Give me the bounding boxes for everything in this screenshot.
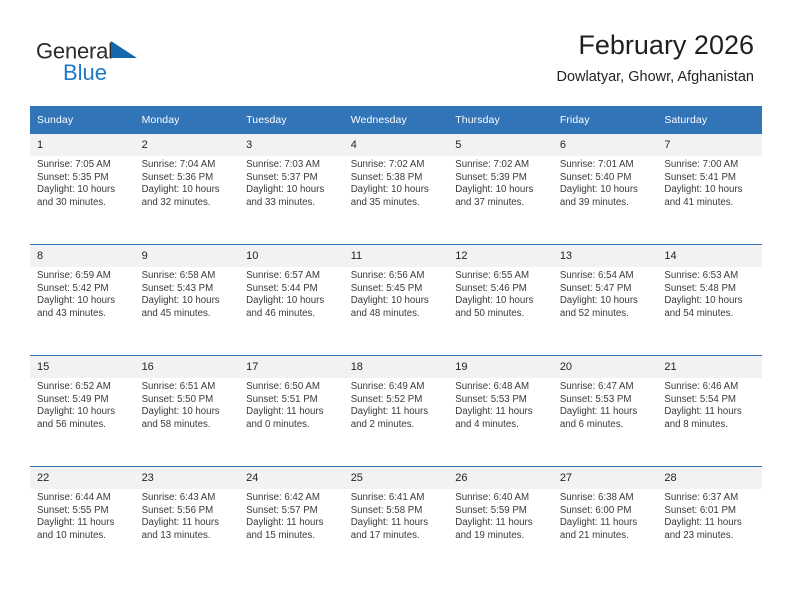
day-number: 26 bbox=[448, 467, 553, 489]
daylight-text-line1: Daylight: 11 hours bbox=[246, 517, 338, 530]
day-number: 13 bbox=[553, 245, 658, 267]
daylight-text-line2: and 4 minutes. bbox=[455, 419, 547, 432]
day-number: 28 bbox=[657, 467, 762, 489]
day-cell-inner: 16Sunrise: 6:51 AMSunset: 5:50 PMDayligh… bbox=[135, 356, 240, 466]
day-details: Sunrise: 6:43 AMSunset: 5:56 PMDaylight:… bbox=[135, 489, 240, 542]
sunrise-text: Sunrise: 6:47 AM bbox=[560, 381, 652, 394]
sunrise-text: Sunrise: 6:48 AM bbox=[455, 381, 547, 394]
calendar-day-cell[interactable]: 10Sunrise: 6:57 AMSunset: 5:44 PMDayligh… bbox=[239, 245, 344, 356]
calendar-day-cell[interactable]: 4Sunrise: 7:02 AMSunset: 5:38 PMDaylight… bbox=[344, 134, 449, 245]
sunset-text: Sunset: 5:51 PM bbox=[246, 394, 338, 407]
calendar-day-cell[interactable]: 22Sunrise: 6:44 AMSunset: 5:55 PMDayligh… bbox=[30, 467, 135, 578]
day-number: 22 bbox=[30, 467, 135, 489]
day-details: Sunrise: 7:02 AMSunset: 5:39 PMDaylight:… bbox=[448, 156, 553, 209]
sunrise-text: Sunrise: 7:05 AM bbox=[37, 159, 129, 172]
calendar-header-row: Sunday Monday Tuesday Wednesday Thursday… bbox=[30, 106, 762, 134]
day-cell-inner: 17Sunrise: 6:50 AMSunset: 5:51 PMDayligh… bbox=[239, 356, 344, 466]
sunrise-text: Sunrise: 6:42 AM bbox=[246, 492, 338, 505]
day-details: Sunrise: 7:04 AMSunset: 5:36 PMDaylight:… bbox=[135, 156, 240, 209]
weekday-header-sunday: Sunday bbox=[30, 106, 135, 134]
day-number: 14 bbox=[657, 245, 762, 267]
daylight-text-line1: Daylight: 11 hours bbox=[455, 406, 547, 419]
day-cell-inner: 2Sunrise: 7:04 AMSunset: 5:36 PMDaylight… bbox=[135, 134, 240, 244]
day-number: 12 bbox=[448, 245, 553, 267]
daylight-text-line2: and 58 minutes. bbox=[142, 419, 234, 432]
weekday-header-tuesday: Tuesday bbox=[239, 106, 344, 134]
calendar-day-cell[interactable]: 12Sunrise: 6:55 AMSunset: 5:46 PMDayligh… bbox=[448, 245, 553, 356]
day-details: Sunrise: 6:53 AMSunset: 5:48 PMDaylight:… bbox=[657, 267, 762, 320]
sunset-text: Sunset: 5:58 PM bbox=[351, 505, 443, 518]
sunrise-text: Sunrise: 6:52 AM bbox=[37, 381, 129, 394]
weekday-header-wednesday: Wednesday bbox=[344, 106, 449, 134]
day-details: Sunrise: 7:01 AMSunset: 5:40 PMDaylight:… bbox=[553, 156, 658, 209]
day-cell-inner: 7Sunrise: 7:00 AMSunset: 5:41 PMDaylight… bbox=[657, 134, 762, 244]
day-cell-inner: 27Sunrise: 6:38 AMSunset: 6:00 PMDayligh… bbox=[553, 467, 658, 577]
sunset-text: Sunset: 5:39 PM bbox=[455, 172, 547, 185]
sunset-text: Sunset: 5:37 PM bbox=[246, 172, 338, 185]
day-details: Sunrise: 6:38 AMSunset: 6:00 PMDaylight:… bbox=[553, 489, 658, 542]
daylight-text-line2: and 23 minutes. bbox=[664, 530, 756, 543]
calendar-day-cell[interactable]: 19Sunrise: 6:48 AMSunset: 5:53 PMDayligh… bbox=[448, 356, 553, 467]
day-number: 8 bbox=[30, 245, 135, 267]
day-details: Sunrise: 6:50 AMSunset: 5:51 PMDaylight:… bbox=[239, 378, 344, 431]
calendar-day-cell[interactable]: 1Sunrise: 7:05 AMSunset: 5:35 PMDaylight… bbox=[30, 134, 135, 245]
daylight-text-line2: and 52 minutes. bbox=[560, 308, 652, 321]
daylight-text-line1: Daylight: 11 hours bbox=[351, 406, 443, 419]
day-number: 1 bbox=[30, 134, 135, 156]
sunrise-text: Sunrise: 6:54 AM bbox=[560, 270, 652, 283]
day-number: 11 bbox=[344, 245, 449, 267]
calendar-page: General Blue February 2026 Dowlatyar, Gh… bbox=[0, 0, 792, 612]
sunrise-text: Sunrise: 6:38 AM bbox=[560, 492, 652, 505]
daylight-text-line2: and 0 minutes. bbox=[246, 419, 338, 432]
day-number: 15 bbox=[30, 356, 135, 378]
sunrise-text: Sunrise: 6:43 AM bbox=[142, 492, 234, 505]
calendar-day-cell[interactable]: 9Sunrise: 6:58 AMSunset: 5:43 PMDaylight… bbox=[135, 245, 240, 356]
daylight-text-line1: Daylight: 10 hours bbox=[664, 295, 756, 308]
sunset-text: Sunset: 5:49 PM bbox=[37, 394, 129, 407]
daylight-text-line2: and 2 minutes. bbox=[351, 419, 443, 432]
day-cell-inner: 22Sunrise: 6:44 AMSunset: 5:55 PMDayligh… bbox=[30, 467, 135, 577]
day-details: Sunrise: 6:56 AMSunset: 5:45 PMDaylight:… bbox=[344, 267, 449, 320]
day-cell-inner: 9Sunrise: 6:58 AMSunset: 5:43 PMDaylight… bbox=[135, 245, 240, 355]
calendar-day-cell[interactable]: 26Sunrise: 6:40 AMSunset: 5:59 PMDayligh… bbox=[448, 467, 553, 578]
day-cell-inner: 4Sunrise: 7:02 AMSunset: 5:38 PMDaylight… bbox=[344, 134, 449, 244]
calendar-day-cell[interactable]: 2Sunrise: 7:04 AMSunset: 5:36 PMDaylight… bbox=[135, 134, 240, 245]
day-cell-inner: 26Sunrise: 6:40 AMSunset: 5:59 PMDayligh… bbox=[448, 467, 553, 577]
day-cell-inner: 8Sunrise: 6:59 AMSunset: 5:42 PMDaylight… bbox=[30, 245, 135, 355]
calendar-day-cell[interactable]: 23Sunrise: 6:43 AMSunset: 5:56 PMDayligh… bbox=[135, 467, 240, 578]
page-subtitle: Dowlatyar, Ghowr, Afghanistan bbox=[557, 68, 754, 86]
day-number: 9 bbox=[135, 245, 240, 267]
calendar-day-cell[interactable]: 24Sunrise: 6:42 AMSunset: 5:57 PMDayligh… bbox=[239, 467, 344, 578]
sunrise-text: Sunrise: 6:46 AM bbox=[664, 381, 756, 394]
sunset-text: Sunset: 5:42 PM bbox=[37, 283, 129, 296]
day-cell-inner: 28Sunrise: 6:37 AMSunset: 6:01 PMDayligh… bbox=[657, 467, 762, 577]
sunset-text: Sunset: 5:57 PM bbox=[246, 505, 338, 518]
daylight-text-line1: Daylight: 11 hours bbox=[142, 517, 234, 530]
daylight-text-line2: and 39 minutes. bbox=[560, 197, 652, 210]
daylight-text-line1: Daylight: 10 hours bbox=[351, 295, 443, 308]
day-details: Sunrise: 6:41 AMSunset: 5:58 PMDaylight:… bbox=[344, 489, 449, 542]
sunrise-text: Sunrise: 7:04 AM bbox=[142, 159, 234, 172]
day-number: 27 bbox=[553, 467, 658, 489]
day-number: 6 bbox=[553, 134, 658, 156]
sunrise-text: Sunrise: 7:02 AM bbox=[455, 159, 547, 172]
day-cell-inner: 10Sunrise: 6:57 AMSunset: 5:44 PMDayligh… bbox=[239, 245, 344, 355]
day-number: 7 bbox=[657, 134, 762, 156]
sunset-text: Sunset: 5:45 PM bbox=[351, 283, 443, 296]
sunset-text: Sunset: 5:54 PM bbox=[664, 394, 756, 407]
calendar-day-cell[interactable]: 28Sunrise: 6:37 AMSunset: 6:01 PMDayligh… bbox=[657, 467, 762, 578]
daylight-text-line2: and 6 minutes. bbox=[560, 419, 652, 432]
sunset-text: Sunset: 5:35 PM bbox=[37, 172, 129, 185]
calendar-table: Sunday Monday Tuesday Wednesday Thursday… bbox=[30, 106, 762, 577]
weekday-header-friday: Friday bbox=[553, 106, 658, 134]
daylight-text-line1: Daylight: 11 hours bbox=[455, 517, 547, 530]
day-details: Sunrise: 6:46 AMSunset: 5:54 PMDaylight:… bbox=[657, 378, 762, 431]
daylight-text-line2: and 43 minutes. bbox=[37, 308, 129, 321]
day-number: 3 bbox=[239, 134, 344, 156]
sunset-text: Sunset: 5:48 PM bbox=[664, 283, 756, 296]
day-details: Sunrise: 6:37 AMSunset: 6:01 PMDaylight:… bbox=[657, 489, 762, 542]
sunrise-text: Sunrise: 7:03 AM bbox=[246, 159, 338, 172]
day-details: Sunrise: 6:59 AMSunset: 5:42 PMDaylight:… bbox=[30, 267, 135, 320]
day-cell-inner: 25Sunrise: 6:41 AMSunset: 5:58 PMDayligh… bbox=[344, 467, 449, 577]
daylight-text-line1: Daylight: 10 hours bbox=[37, 406, 129, 419]
calendar-week-row: 15Sunrise: 6:52 AMSunset: 5:49 PMDayligh… bbox=[30, 356, 762, 467]
sunset-text: Sunset: 5:56 PM bbox=[142, 505, 234, 518]
calendar-day-cell[interactable]: 17Sunrise: 6:50 AMSunset: 5:51 PMDayligh… bbox=[239, 356, 344, 467]
daylight-text-line1: Daylight: 10 hours bbox=[37, 184, 129, 197]
calendar-day-cell[interactable]: 8Sunrise: 6:59 AMSunset: 5:42 PMDaylight… bbox=[30, 245, 135, 356]
calendar-day-cell[interactable]: 5Sunrise: 7:02 AMSunset: 5:39 PMDaylight… bbox=[448, 134, 553, 245]
day-details: Sunrise: 6:48 AMSunset: 5:53 PMDaylight:… bbox=[448, 378, 553, 431]
day-number: 25 bbox=[344, 467, 449, 489]
day-details: Sunrise: 6:49 AMSunset: 5:52 PMDaylight:… bbox=[344, 378, 449, 431]
sunset-text: Sunset: 5:43 PM bbox=[142, 283, 234, 296]
day-cell-inner: 18Sunrise: 6:49 AMSunset: 5:52 PMDayligh… bbox=[344, 356, 449, 466]
day-cell-inner: 6Sunrise: 7:01 AMSunset: 5:40 PMDaylight… bbox=[553, 134, 658, 244]
daylight-text-line2: and 17 minutes. bbox=[351, 530, 443, 543]
sunrise-text: Sunrise: 6:41 AM bbox=[351, 492, 443, 505]
calendar-day-cell[interactable]: 7Sunrise: 7:00 AMSunset: 5:41 PMDaylight… bbox=[657, 134, 762, 245]
day-details: Sunrise: 7:00 AMSunset: 5:41 PMDaylight:… bbox=[657, 156, 762, 209]
calendar-day-cell[interactable]: 20Sunrise: 6:47 AMSunset: 5:53 PMDayligh… bbox=[553, 356, 658, 467]
calendar-day-cell[interactable]: 3Sunrise: 7:03 AMSunset: 5:37 PMDaylight… bbox=[239, 134, 344, 245]
sunrise-text: Sunrise: 7:00 AM bbox=[664, 159, 756, 172]
day-cell-inner: 15Sunrise: 6:52 AMSunset: 5:49 PMDayligh… bbox=[30, 356, 135, 466]
daylight-text-line1: Daylight: 11 hours bbox=[664, 517, 756, 530]
day-cell-inner: 14Sunrise: 6:53 AMSunset: 5:48 PMDayligh… bbox=[657, 245, 762, 355]
daylight-text-line1: Daylight: 10 hours bbox=[246, 295, 338, 308]
sunset-text: Sunset: 5:52 PM bbox=[351, 394, 443, 407]
day-cell-inner: 20Sunrise: 6:47 AMSunset: 5:53 PMDayligh… bbox=[553, 356, 658, 466]
day-cell-inner: 13Sunrise: 6:54 AMSunset: 5:47 PMDayligh… bbox=[553, 245, 658, 355]
day-number: 5 bbox=[448, 134, 553, 156]
day-number: 23 bbox=[135, 467, 240, 489]
daylight-text-line1: Daylight: 10 hours bbox=[351, 184, 443, 197]
daylight-text-line1: Daylight: 10 hours bbox=[142, 406, 234, 419]
sunrise-text: Sunrise: 6:56 AM bbox=[351, 270, 443, 283]
calendar-day-cell[interactable]: 11Sunrise: 6:56 AMSunset: 5:45 PMDayligh… bbox=[344, 245, 449, 356]
daylight-text-line2: and 30 minutes. bbox=[37, 197, 129, 210]
weekday-header-monday: Monday bbox=[135, 106, 240, 134]
sunset-text: Sunset: 5:38 PM bbox=[351, 172, 443, 185]
daylight-text-line2: and 46 minutes. bbox=[246, 308, 338, 321]
daylight-text-line1: Daylight: 11 hours bbox=[246, 406, 338, 419]
page-title: February 2026 bbox=[557, 28, 754, 62]
sunrise-text: Sunrise: 6:58 AM bbox=[142, 270, 234, 283]
calendar-week-row: 1Sunrise: 7:05 AMSunset: 5:35 PMDaylight… bbox=[30, 134, 762, 245]
daylight-text-line2: and 8 minutes. bbox=[664, 419, 756, 432]
sunrise-text: Sunrise: 6:44 AM bbox=[37, 492, 129, 505]
day-number: 19 bbox=[448, 356, 553, 378]
day-number: 24 bbox=[239, 467, 344, 489]
calendar-day-cell[interactable]: 13Sunrise: 6:54 AMSunset: 5:47 PMDayligh… bbox=[553, 245, 658, 356]
sunrise-text: Sunrise: 6:50 AM bbox=[246, 381, 338, 394]
daylight-text-line1: Daylight: 11 hours bbox=[664, 406, 756, 419]
daylight-text-line2: and 13 minutes. bbox=[142, 530, 234, 543]
calendar-day-cell[interactable]: 18Sunrise: 6:49 AMSunset: 5:52 PMDayligh… bbox=[344, 356, 449, 467]
day-details: Sunrise: 6:54 AMSunset: 5:47 PMDaylight:… bbox=[553, 267, 658, 320]
day-cell-inner: 19Sunrise: 6:48 AMSunset: 5:53 PMDayligh… bbox=[448, 356, 553, 466]
day-cell-inner: 21Sunrise: 6:46 AMSunset: 5:54 PMDayligh… bbox=[657, 356, 762, 466]
day-details: Sunrise: 6:58 AMSunset: 5:43 PMDaylight:… bbox=[135, 267, 240, 320]
sunrise-text: Sunrise: 6:57 AM bbox=[246, 270, 338, 283]
daylight-text-line1: Daylight: 10 hours bbox=[560, 295, 652, 308]
sunset-text: Sunset: 5:36 PM bbox=[142, 172, 234, 185]
daylight-text-line2: and 50 minutes. bbox=[455, 308, 547, 321]
sunrise-text: Sunrise: 6:51 AM bbox=[142, 381, 234, 394]
daylight-text-line2: and 41 minutes. bbox=[664, 197, 756, 210]
day-number: 4 bbox=[344, 134, 449, 156]
sunset-text: Sunset: 6:00 PM bbox=[560, 505, 652, 518]
day-details: Sunrise: 6:47 AMSunset: 5:53 PMDaylight:… bbox=[553, 378, 658, 431]
calendar-week-row: 22Sunrise: 6:44 AMSunset: 5:55 PMDayligh… bbox=[30, 467, 762, 578]
daylight-text-line2: and 48 minutes. bbox=[351, 308, 443, 321]
day-number: 16 bbox=[135, 356, 240, 378]
sunset-text: Sunset: 5:53 PM bbox=[455, 394, 547, 407]
day-cell-inner: 12Sunrise: 6:55 AMSunset: 5:46 PMDayligh… bbox=[448, 245, 553, 355]
sunrise-text: Sunrise: 7:02 AM bbox=[351, 159, 443, 172]
sunrise-text: Sunrise: 6:40 AM bbox=[455, 492, 547, 505]
sunrise-text: Sunrise: 6:49 AM bbox=[351, 381, 443, 394]
sunset-text: Sunset: 5:46 PM bbox=[455, 283, 547, 296]
daylight-text-line1: Daylight: 11 hours bbox=[560, 517, 652, 530]
sunset-text: Sunset: 5:47 PM bbox=[560, 283, 652, 296]
sunset-text: Sunset: 5:59 PM bbox=[455, 505, 547, 518]
sunrise-text: Sunrise: 6:53 AM bbox=[664, 270, 756, 283]
daylight-text-line1: Daylight: 10 hours bbox=[142, 184, 234, 197]
day-details: Sunrise: 6:44 AMSunset: 5:55 PMDaylight:… bbox=[30, 489, 135, 542]
calendar-day-cell[interactable]: 25Sunrise: 6:41 AMSunset: 5:58 PMDayligh… bbox=[344, 467, 449, 578]
daylight-text-line1: Daylight: 10 hours bbox=[664, 184, 756, 197]
daylight-text-line1: Daylight: 10 hours bbox=[246, 184, 338, 197]
sunrise-text: Sunrise: 7:01 AM bbox=[560, 159, 652, 172]
calendar-day-cell[interactable]: 21Sunrise: 6:46 AMSunset: 5:54 PMDayligh… bbox=[657, 356, 762, 467]
day-details: Sunrise: 6:42 AMSunset: 5:57 PMDaylight:… bbox=[239, 489, 344, 542]
calendar-day-cell[interactable]: 27Sunrise: 6:38 AMSunset: 6:00 PMDayligh… bbox=[553, 467, 658, 578]
weekday-header-thursday: Thursday bbox=[448, 106, 553, 134]
day-cell-inner: 1Sunrise: 7:05 AMSunset: 5:35 PMDaylight… bbox=[30, 134, 135, 244]
daylight-text-line2: and 54 minutes. bbox=[664, 308, 756, 321]
calendar-day-cell[interactable]: 6Sunrise: 7:01 AMSunset: 5:40 PMDaylight… bbox=[553, 134, 658, 245]
brand-logo[interactable]: General Blue bbox=[36, 38, 256, 96]
sunset-text: Sunset: 5:40 PM bbox=[560, 172, 652, 185]
day-details: Sunrise: 7:02 AMSunset: 5:38 PMDaylight:… bbox=[344, 156, 449, 209]
day-details: Sunrise: 6:52 AMSunset: 5:49 PMDaylight:… bbox=[30, 378, 135, 431]
daylight-text-line1: Daylight: 10 hours bbox=[455, 295, 547, 308]
day-details: Sunrise: 7:03 AMSunset: 5:37 PMDaylight:… bbox=[239, 156, 344, 209]
calendar-day-cell[interactable]: 15Sunrise: 6:52 AMSunset: 5:49 PMDayligh… bbox=[30, 356, 135, 467]
daylight-text-line2: and 15 minutes. bbox=[246, 530, 338, 543]
day-number: 17 bbox=[239, 356, 344, 378]
day-number: 20 bbox=[553, 356, 658, 378]
sunset-text: Sunset: 5:44 PM bbox=[246, 283, 338, 296]
daylight-text-line2: and 10 minutes. bbox=[37, 530, 129, 543]
day-details: Sunrise: 7:05 AMSunset: 5:35 PMDaylight:… bbox=[30, 156, 135, 209]
sunset-text: Sunset: 5:50 PM bbox=[142, 394, 234, 407]
daylight-text-line1: Daylight: 10 hours bbox=[37, 295, 129, 308]
daylight-text-line2: and 56 minutes. bbox=[37, 419, 129, 432]
daylight-text-line2: and 37 minutes. bbox=[455, 197, 547, 210]
day-details: Sunrise: 6:57 AMSunset: 5:44 PMDaylight:… bbox=[239, 267, 344, 320]
day-number: 18 bbox=[344, 356, 449, 378]
day-details: Sunrise: 6:55 AMSunset: 5:46 PMDaylight:… bbox=[448, 267, 553, 320]
calendar-week-row: 8Sunrise: 6:59 AMSunset: 5:42 PMDaylight… bbox=[30, 245, 762, 356]
title-block: February 2026 Dowlatyar, Ghowr, Afghanis… bbox=[557, 28, 754, 86]
daylight-text-line1: Daylight: 10 hours bbox=[455, 184, 547, 197]
sunset-text: Sunset: 6:01 PM bbox=[664, 505, 756, 518]
sunrise-text: Sunrise: 6:59 AM bbox=[37, 270, 129, 283]
day-number: 2 bbox=[135, 134, 240, 156]
daylight-text-line1: Daylight: 10 hours bbox=[560, 184, 652, 197]
day-cell-inner: 11Sunrise: 6:56 AMSunset: 5:45 PMDayligh… bbox=[344, 245, 449, 355]
daylight-text-line2: and 33 minutes. bbox=[246, 197, 338, 210]
sunset-text: Sunset: 5:53 PM bbox=[560, 394, 652, 407]
daylight-text-line2: and 45 minutes. bbox=[142, 308, 234, 321]
daylight-text-line1: Daylight: 11 hours bbox=[351, 517, 443, 530]
sunset-text: Sunset: 5:41 PM bbox=[664, 172, 756, 185]
day-number: 21 bbox=[657, 356, 762, 378]
day-cell-inner: 3Sunrise: 7:03 AMSunset: 5:37 PMDaylight… bbox=[239, 134, 344, 244]
daylight-text-line1: Daylight: 10 hours bbox=[142, 295, 234, 308]
sunrise-text: Sunrise: 6:55 AM bbox=[455, 270, 547, 283]
sunset-text: Sunset: 5:55 PM bbox=[37, 505, 129, 518]
day-cell-inner: 5Sunrise: 7:02 AMSunset: 5:39 PMDaylight… bbox=[448, 134, 553, 244]
daylight-text-line2: and 32 minutes. bbox=[142, 197, 234, 210]
daylight-text-line2: and 35 minutes. bbox=[351, 197, 443, 210]
daylight-text-line2: and 21 minutes. bbox=[560, 530, 652, 543]
day-details: Sunrise: 6:40 AMSunset: 5:59 PMDaylight:… bbox=[448, 489, 553, 542]
daylight-text-line1: Daylight: 11 hours bbox=[560, 406, 652, 419]
sunrise-text: Sunrise: 6:37 AM bbox=[664, 492, 756, 505]
day-details: Sunrise: 6:51 AMSunset: 5:50 PMDaylight:… bbox=[135, 378, 240, 431]
calendar-day-cell[interactable]: 14Sunrise: 6:53 AMSunset: 5:48 PMDayligh… bbox=[657, 245, 762, 356]
calendar-body: 1Sunrise: 7:05 AMSunset: 5:35 PMDaylight… bbox=[30, 134, 762, 577]
weekday-header-saturday: Saturday bbox=[657, 106, 762, 134]
day-cell-inner: 23Sunrise: 6:43 AMSunset: 5:56 PMDayligh… bbox=[135, 467, 240, 577]
page-header: General Blue February 2026 Dowlatyar, Gh… bbox=[0, 28, 792, 100]
calendar-day-cell[interactable]: 16Sunrise: 6:51 AMSunset: 5:50 PMDayligh… bbox=[135, 356, 240, 467]
brand-text-blue: Blue bbox=[63, 60, 256, 86]
day-cell-inner: 24Sunrise: 6:42 AMSunset: 5:57 PMDayligh… bbox=[239, 467, 344, 577]
daylight-text-line2: and 19 minutes. bbox=[455, 530, 547, 543]
day-number: 10 bbox=[239, 245, 344, 267]
daylight-text-line1: Daylight: 11 hours bbox=[37, 517, 129, 530]
